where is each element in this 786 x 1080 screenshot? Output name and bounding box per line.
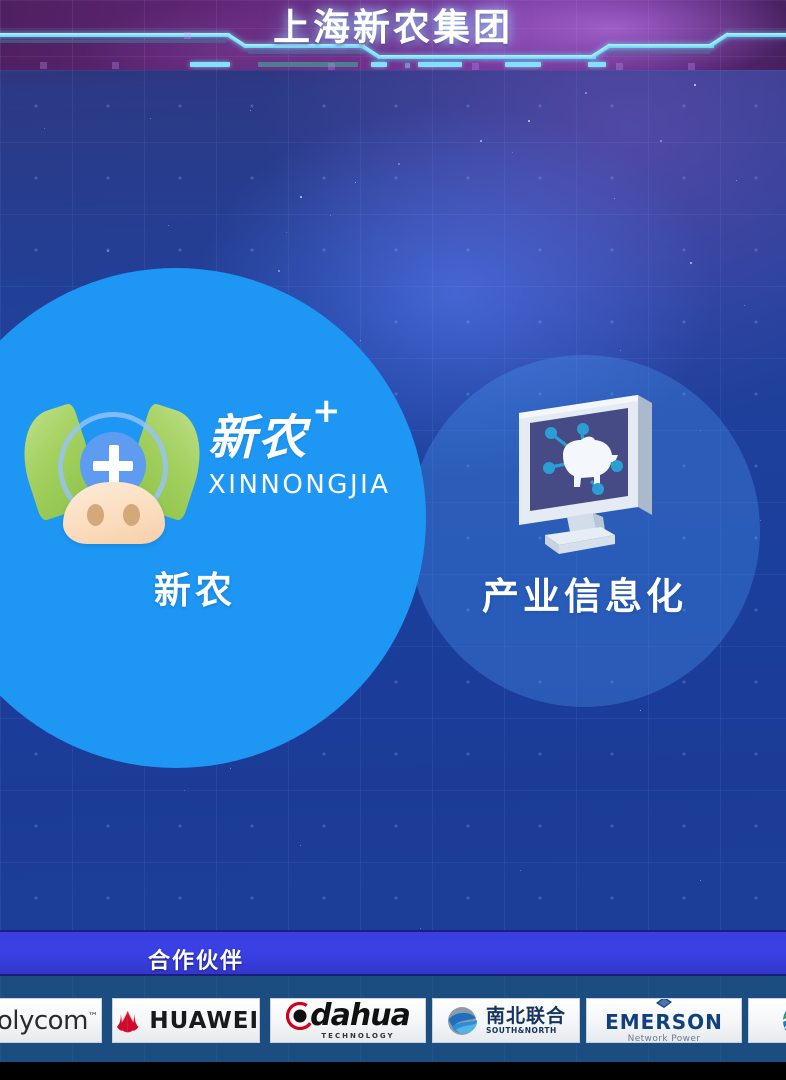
- green-blue-globe-icon: [780, 1000, 786, 1042]
- partner-label: dahua: [310, 1001, 410, 1031]
- partner-sublabel: TECHNOLOGY: [321, 1033, 394, 1040]
- monitor-svg: [505, 383, 675, 558]
- huawei-petal-icon: [113, 1007, 142, 1035]
- partner-logo-south-north[interactable]: 南北联合 SOUTH&NORTH: [432, 998, 580, 1043]
- partner-logo-globe[interactable]: [748, 998, 786, 1043]
- header-step-line: [380, 55, 580, 59]
- industry-info-label: 产业信息化: [432, 566, 737, 620]
- wordmark-en: XINNONGJIA: [208, 470, 398, 500]
- header-tick: [405, 63, 410, 68]
- header-square: [328, 63, 335, 70]
- header-square: [472, 63, 479, 70]
- header-tick: [588, 62, 606, 67]
- header-square: [688, 63, 695, 70]
- partner-logo-polycom[interactable]: Polycom™: [0, 998, 102, 1043]
- header-tick: [505, 62, 541, 67]
- partner-logo-emerson[interactable]: EMERSON Network Power: [586, 998, 742, 1043]
- partner-sublabel: SOUTH&NORTH: [486, 1027, 566, 1035]
- app-root: 上海新农集团 新农+ XINNONGJIA 新农: [0, 0, 786, 1080]
- brand-wordmark: 新农+ XINNONGJIA: [208, 398, 398, 500]
- xinnong-brand-lockup: 新农+ XINNONGJIA: [10, 392, 402, 542]
- header-square: [616, 63, 623, 70]
- header-tick: [190, 62, 230, 67]
- nostril-icon: [123, 504, 140, 526]
- partner-label: 南北联合: [486, 1006, 566, 1027]
- partner-sublabel: Network Power: [628, 1034, 701, 1043]
- page-header: 上海新农集团: [0, 0, 786, 70]
- bottom-letterbox: [0, 1062, 786, 1080]
- xinnong-label: 新农: [0, 560, 390, 614]
- monitor-pig-network-icon: [505, 383, 675, 558]
- pig-leaf-plus-logo-icon: [18, 404, 208, 524]
- south-north-globe-icon: [446, 1005, 480, 1037]
- emerson-diamond-icon: [656, 998, 672, 1011]
- partner-label: Polycom: [0, 1006, 88, 1036]
- partners-title-bar: 合作伙伴: [0, 930, 786, 976]
- header-square: [40, 62, 47, 69]
- header-square: [112, 62, 119, 69]
- partners-logo-strip[interactable]: Polycom™ HUAWEI dahua: [0, 976, 786, 1062]
- partner-logo-huawei[interactable]: HUAWEI: [112, 998, 260, 1043]
- nostril-icon: [87, 504, 104, 526]
- header-step-shadow: [248, 51, 364, 54]
- partner-label: EMERSON: [605, 1011, 723, 1034]
- partner-logo-dahua[interactable]: dahua TECHNOLOGY: [270, 998, 426, 1043]
- header-tick: [418, 62, 462, 67]
- header-tick: [258, 62, 358, 67]
- page-title: 上海新农集团: [0, 0, 786, 51]
- header-step-shadow: [606, 51, 710, 54]
- partners-title: 合作伙伴: [148, 943, 244, 975]
- wordmark-plus: +: [312, 394, 341, 428]
- partner-label: HUAWEI: [149, 1008, 259, 1034]
- header-tick: [371, 62, 387, 67]
- tm-icon: ™: [88, 1011, 98, 1022]
- wordmark-cn: 新农: [208, 398, 308, 468]
